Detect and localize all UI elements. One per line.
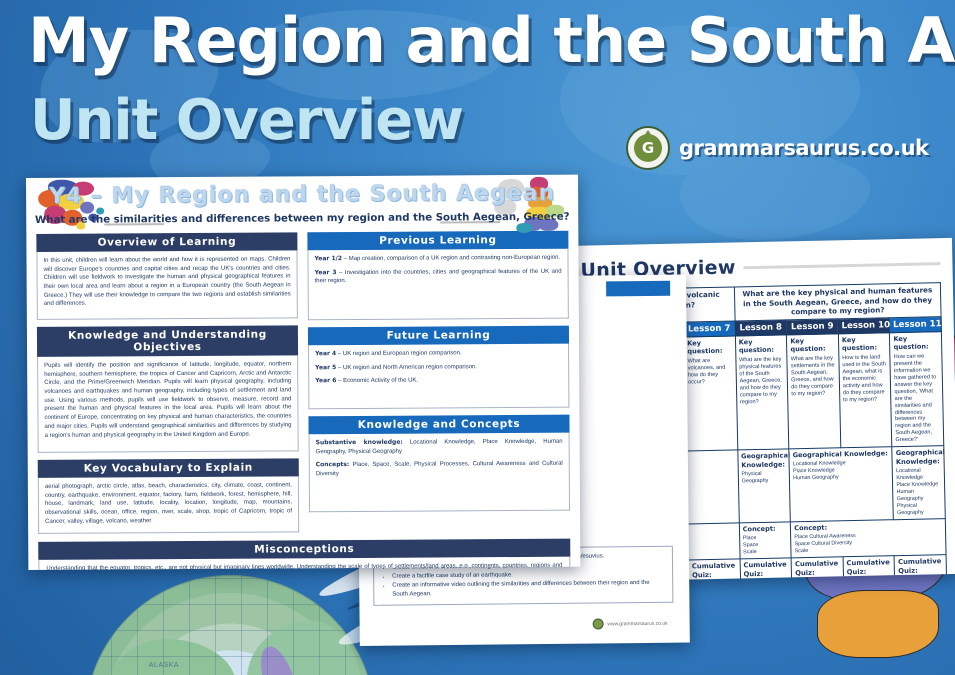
key-question-text: What are the key physical features of th…: [739, 356, 782, 405]
knowledge-and-concepts-card: Knowledge and Concepts Substantive knowl…: [308, 415, 570, 513]
front-sheet-left-column: Overview of Learning In this unit, child…: [36, 232, 299, 541]
key-question-cell-9: Key question:What are the key settlement…: [787, 334, 841, 449]
key-question-label: Key question:: [739, 338, 784, 355]
future-learning-body: Year 4 – UK region and European region c…: [308, 344, 569, 410]
title-banner: My Region and the South Aegean Unit Over…: [0, 0, 955, 182]
geo-knowledge-label: Geographical Knowledge:: [741, 452, 786, 470]
previous-learning-body: Year 1/2 – Map creation, comparison of a…: [307, 249, 568, 321]
concept-text: Place Cultural Awareness Space Cultural …: [794, 533, 855, 555]
key-question-label: Key question:: [790, 337, 835, 354]
quiz-label: Cumulative Quiz:: [743, 561, 788, 580]
lesson-header-11: Lesson 11: [889, 317, 941, 333]
substantive-knowledge-line: Substantive knowledge: Locational Knowle…: [316, 438, 563, 457]
lesson-header-8: Lesson 8: [735, 320, 787, 336]
misconceptions-card: Misconceptions Understanding that the eq…: [28, 539, 580, 570]
quiz-cell-7: Cumulative Quiz:Q20-22: [688, 559, 740, 582]
key-question-cell-10: Key question:How is the land used in the…: [838, 333, 892, 448]
front-sheet-title: Y4 – My Region and the South Aegean: [26, 181, 578, 209]
geo-knowledge-label: Geographical Knowledge:: [793, 450, 889, 461]
knowledge-objectives-card: Knowledge and Understanding Objectives P…: [37, 325, 299, 453]
concepts-heading: Knowledge and Concepts: [308, 415, 569, 435]
previous-learning-card: Previous Learning Year 1/2 – Map creatio…: [307, 231, 569, 321]
objectives-text: Pupils will identify the position and si…: [44, 360, 291, 440]
substantive-label: Substantive knowledge:: [316, 439, 403, 447]
key-question-text: What are the key settlements in the Sout…: [791, 355, 835, 397]
concepts-line: Concepts: Place, Space, Scale, Physical …: [316, 460, 563, 479]
previous-learning-item: Year 1/2 – Map creation, comparison of a…: [314, 254, 561, 264]
year-text: – Map creation, comparison of a UK regio…: [342, 255, 560, 262]
concept-text: Place Space Scale: [743, 535, 759, 556]
future-learning-heading: Future Learning: [308, 326, 569, 346]
lesson-header-7: Lesson 7: [683, 321, 735, 337]
overview-text: In this unit, children will learn about …: [43, 255, 290, 309]
year-label: Year 6: [315, 377, 336, 384]
future-learning-item: Year 4 – UK region and European region c…: [315, 349, 562, 359]
key-question-label: Key question:: [893, 334, 938, 351]
page-subtitle: Unit Overview: [30, 88, 463, 153]
vocabulary-body: aerial photograph, arctic circle, atlas,…: [38, 476, 299, 534]
future-learning-item: Year 5 – UK region and North American re…: [315, 362, 562, 372]
key-question-text: How is the land used in the South Aegean…: [842, 354, 886, 403]
year-label: Year 3: [315, 269, 337, 276]
year-text: – Investigation into the countries, citi…: [315, 268, 562, 284]
concept-cell-9-11: Concept:Place Cultural Awareness Space C…: [791, 518, 946, 558]
concepts-label: Concepts:: [316, 461, 350, 468]
quiz-label: Cumulative Quiz:: [846, 559, 891, 578]
brand-text: grammarsaurus.co.uk: [679, 136, 929, 160]
front-sheet-body: Overview of Learning In this unit, child…: [26, 231, 580, 541]
quiz-label: Cumulative Quiz:: [795, 560, 840, 579]
quiz-label: Cumulative Quiz:: [898, 558, 943, 577]
vocabulary-text: aerial photograph, arctic circle, atlas,…: [45, 481, 292, 526]
lesson-header-9: Lesson 9: [786, 319, 838, 335]
geo-knowledge-label: Geographical Knowledge:: [896, 449, 941, 467]
concept-cell-8: Concept:Place Space Scale: [739, 522, 791, 560]
previous-learning-item: Year 3 – Investigation into the countrie…: [315, 267, 562, 286]
title-rule: [744, 262, 941, 269]
year-label: Year 1/2: [314, 255, 342, 262]
front-sheet-unit-overview[interactable]: Y4 – My Region and the South Aegean What…: [26, 175, 580, 570]
concepts-text: Place, Space, Scale, Physical Processes,…: [316, 461, 563, 477]
vocabulary-heading: Key Vocabulary to Explain: [38, 458, 299, 478]
globe-label-alaska: ALASKA: [149, 662, 179, 669]
geo-knowledge-cell-11: Geographical Knowledge:Locational Knowle…: [892, 446, 945, 519]
middle-sheet-footer: www.grammarsaurus.co.uk: [592, 618, 667, 630]
year-text: – UK region and European region comparis…: [336, 350, 461, 357]
year-text: – UK region and North American region co…: [336, 364, 477, 371]
geo-knowledge-text: Locational Knowledge Place Knowledge Hum…: [793, 460, 846, 481]
footer-logo-icon: [592, 618, 603, 629]
overview-body: In this unit, children will learn about …: [36, 250, 297, 320]
lesson-header-10: Lesson 10: [838, 318, 890, 334]
objectives-heading: Knowledge and Understanding Objectives: [37, 325, 298, 357]
concept-label: Concept:: [794, 521, 942, 533]
key-question-text: What are volcanoes, and how do they occu…: [687, 358, 725, 385]
key-vocabulary-card: Key Vocabulary to Explain aerial photogr…: [38, 458, 299, 534]
geo-knowledge-cell-8: Geographical Knowledge:Physical Geograph…: [738, 449, 791, 522]
key-question-label: Key question:: [842, 335, 887, 352]
geo-knowledge-text: Locational Knowledge Place Knowledge Hum…: [896, 467, 938, 516]
key-question-cell-7: Key question:What are volcanoes, and how…: [684, 336, 738, 451]
future-learning-item: Year 6 – Economic Activity of the UK.: [315, 376, 562, 386]
front-sheet-header: Y4 – My Region and the South Aegean What…: [26, 175, 578, 234]
front-sheet-right-column: Previous Learning Year 1/2 – Map creatio…: [307, 231, 570, 540]
key-question-text: How can we present the information we ha…: [894, 353, 937, 443]
activity-item: Create an informative video outlining th…: [392, 579, 666, 600]
footer-url: www.grammarsaurus.co.uk: [607, 620, 667, 627]
brand-logo: G grammarsaurus.co.uk: [626, 126, 929, 170]
overview-of-learning-card: Overview of Learning In this unit, child…: [36, 232, 298, 320]
year-text: – Economic Activity of the UK.: [336, 378, 418, 384]
page-title: My Region and the South Aegean: [28, 4, 955, 77]
year-label: Year 4: [315, 350, 336, 357]
key-question-cell-11: Key question:How can we present the info…: [890, 332, 944, 447]
concept-label: Concept:: [743, 524, 788, 534]
geo-knowledge-text: Physical Geography: [741, 471, 768, 484]
geo-knowledge-cell-9-10: Geographical Knowledge:Locational Knowle…: [789, 447, 894, 521]
key-question-cell-8: Key question:What are the key physical f…: [735, 335, 789, 450]
enquiry-question-2: What are the key physical and human feat…: [734, 283, 941, 321]
quiz-label: Cumulative Quiz:: [692, 562, 737, 581]
concepts-body: Substantive knowledge: Locational Knowle…: [309, 433, 570, 513]
key-question-label: Key question:: [687, 339, 732, 356]
year-label: Year 5: [315, 364, 336, 371]
future-learning-card: Future Learning Year 4 – UK region and E…: [308, 326, 569, 410]
grammarsaurus-logo-icon: G: [626, 126, 670, 170]
objectives-body: Pupils will identify the position and si…: [37, 355, 299, 453]
middle-sheet-cap: [606, 281, 670, 297]
